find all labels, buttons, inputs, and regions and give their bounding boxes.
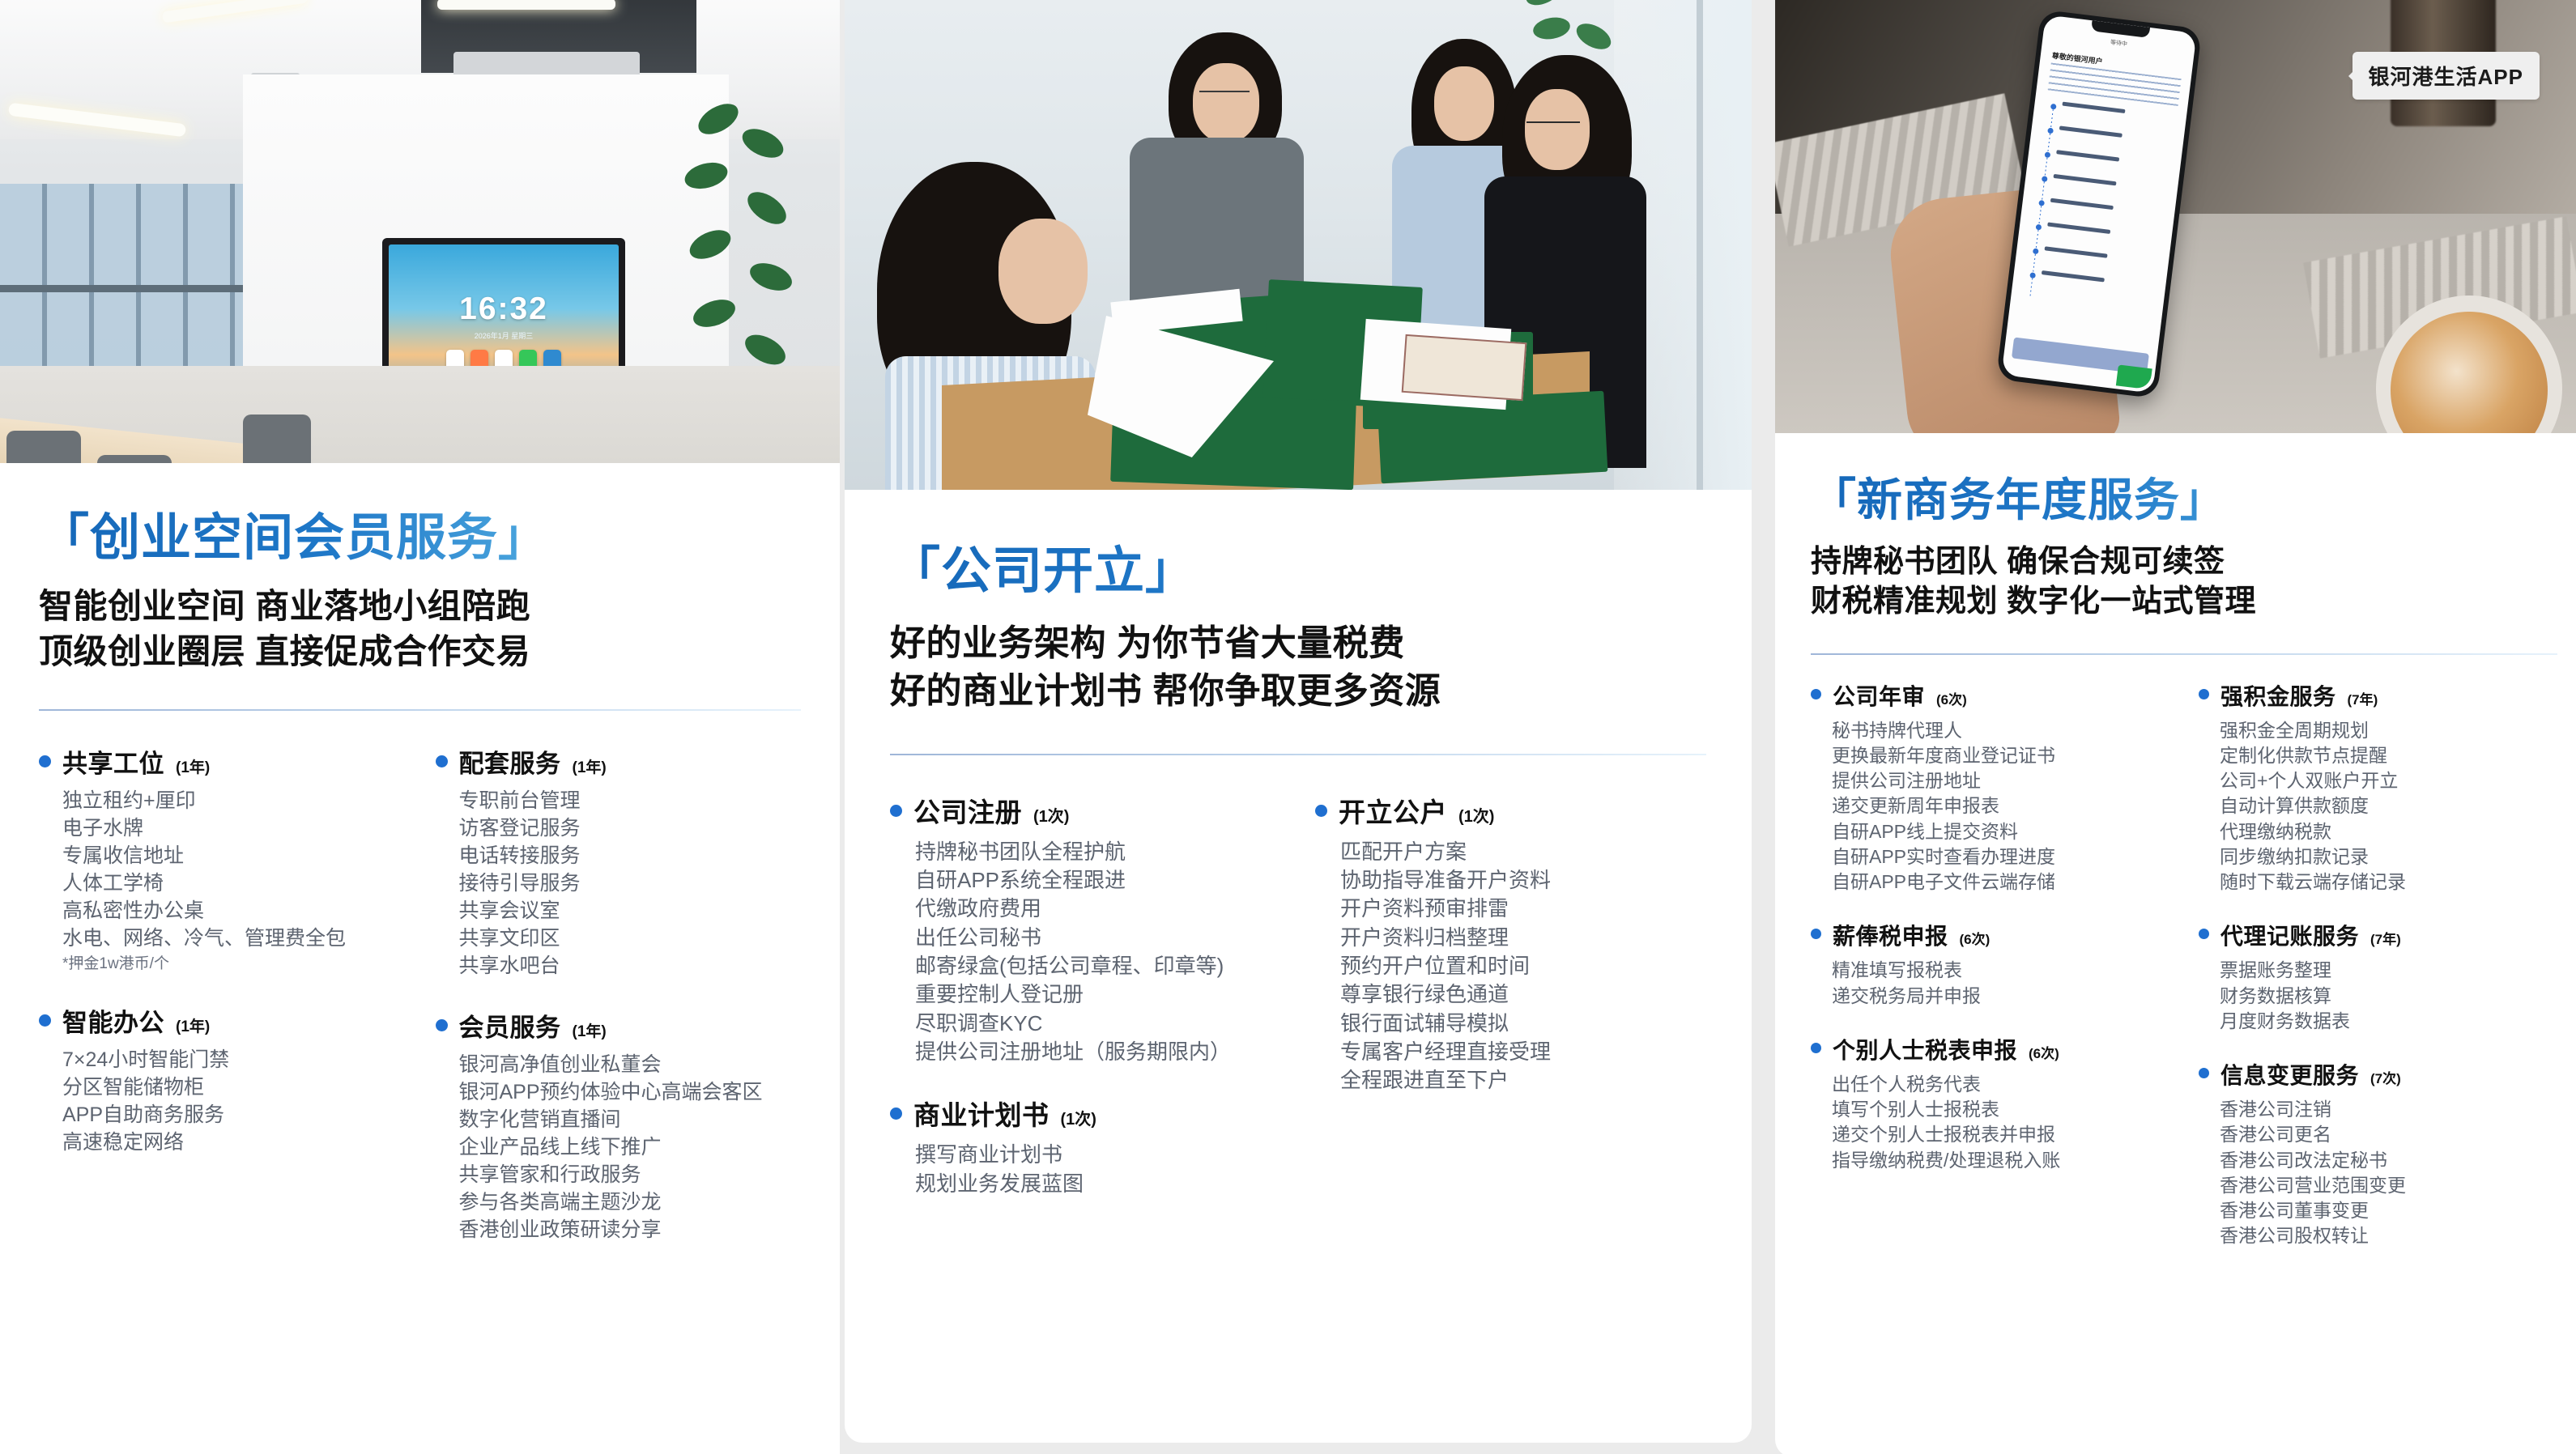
group-title: 商业计划书 bbox=[913, 1094, 1050, 1133]
hero-image-office: 16:32 2026年1月 星期三 bbox=[0, 0, 840, 463]
list-item: 自研APP系统全程跟进 bbox=[915, 866, 1281, 895]
group-salaries-tax: 薪俸税申报 (6次) 精准填写报税表 递交税务局并申报 bbox=[1811, 919, 2169, 1009]
list-item: 定制化供款节点提醒 bbox=[2220, 743, 2557, 768]
group-count: (6次) bbox=[1960, 928, 1991, 948]
card-body: 「公司开立」 好的业务架构 为你节省大量税费 好的商业计划书 帮你争取更多资源 … bbox=[845, 543, 1752, 1226]
group-member-services: 会员服务 (1年) 银河高净值创业私董会 银河APP预约体验中心高端会客区 数字… bbox=[436, 1007, 802, 1244]
group-title: 公司注册 bbox=[913, 791, 1022, 830]
list-item: 访客登记服务 bbox=[459, 814, 802, 842]
list-item: 尽职调查KYC bbox=[915, 1010, 1281, 1038]
group-count: (1年) bbox=[573, 1019, 607, 1041]
group-shared-desk: 共享工位 (1年) 独立租约+厘印 电子水牌 专属收信地址 人体工学椅 高私密性… bbox=[39, 743, 405, 975]
list-item: 自研APP实时查看办理进度 bbox=[1832, 844, 2169, 869]
app-callout-label: 银河港生活APP bbox=[2352, 52, 2540, 100]
hero-image-team bbox=[845, 0, 1752, 490]
list-item: 自研APP线上提交资料 bbox=[1832, 819, 2169, 844]
list-item: 重要控制人登记册 bbox=[915, 980, 1281, 1009]
page-title: 「创业空间会员服务」 bbox=[39, 510, 801, 566]
group-count: (1次) bbox=[1458, 803, 1494, 827]
group-bank-account: 开立公户 (1次) 匹配开户方案 协助指导准备开户资料 开户资料预审排雷 开户资… bbox=[1315, 791, 1706, 1095]
group-count: (1年) bbox=[176, 1014, 210, 1036]
group-items: 银河高净值创业私董会 银河APP预约体验中心高端会客区 数字化营销直播间 企业产… bbox=[459, 1051, 802, 1244]
bullet-dot-icon bbox=[2199, 1068, 2209, 1078]
group-count: (7年) bbox=[2370, 928, 2401, 948]
group-title: 开立公户 bbox=[1339, 791, 1447, 830]
list-item: 企业产品线上线下推广 bbox=[459, 1133, 802, 1161]
list-item: 票据账务整理 bbox=[2220, 958, 2557, 983]
list-item: 递交个别人士报税表并申报 bbox=[1832, 1122, 2169, 1147]
list-item: 香港公司改法定秘书 bbox=[2220, 1148, 2557, 1173]
bullet-dot-icon bbox=[1811, 1043, 1821, 1053]
list-item: 专属收信地址 bbox=[62, 842, 405, 869]
column-2: 强积金服务 (7年) 强积金全周期规划 定制化供款节点提醒 公司+个人双账户开立… bbox=[2199, 679, 2557, 1273]
list-item: 共享文印区 bbox=[459, 925, 802, 952]
subtitle-line-1: 好的业务架构 为你节省大量税费 bbox=[890, 620, 1706, 667]
column-2: 配套服务 (1年) 专职前台管理 访客登记服务 电话转接服务 接待引导服务 共享… bbox=[436, 743, 802, 1271]
list-item: 全程跟进直至下户 bbox=[1340, 1066, 1706, 1095]
list-item: 精准填写报税表 bbox=[1832, 958, 2169, 983]
list-item: 香港公司营业范围变更 bbox=[2220, 1173, 2557, 1198]
hero-image-phone: 等待中 尊敬的银河用户 bbox=[1775, 0, 2576, 433]
group-smart-office: 智能办公 (1年) 7×24小时智能门禁 分区智能储物柜 APP自助商务服务 高… bbox=[39, 1002, 405, 1156]
group-title: 个别人士税表申报 bbox=[1833, 1033, 2017, 1065]
group-items: 强积金全周期规划 定制化供款节点提醒 公司+个人双账户开立 自动计算供款额度 代… bbox=[2220, 718, 2557, 895]
group-items: 出任个人税务代表 填写个别人士报税表 递交个别人士报税表并申报 指导缴纳税费/处… bbox=[1832, 1072, 2169, 1173]
subtitle-line-2: 好的商业计划书 帮你争取更多资源 bbox=[890, 668, 1706, 715]
list-item: 数字化营销直播间 bbox=[459, 1106, 802, 1133]
list-item: 香港公司更名 bbox=[2220, 1122, 2557, 1147]
list-item: 撰写商业计划书 bbox=[915, 1141, 1281, 1169]
group-title: 配套服务 bbox=[459, 743, 561, 780]
group-count: (1次) bbox=[1061, 1106, 1096, 1129]
list-item: 预约开户位置和时间 bbox=[1340, 952, 1706, 980]
group-company-registration: 公司注册 (1次) 持牌秘书团队全程护航 自研APP系统全程跟进 代缴政府费用 … bbox=[890, 791, 1281, 1067]
group-title: 智能办公 bbox=[62, 1002, 164, 1039]
column-1: 共享工位 (1年) 独立租约+厘印 电子水牌 专属收信地址 人体工学椅 高私密性… bbox=[39, 743, 405, 1271]
section-divider bbox=[39, 709, 801, 711]
bullet-dot-icon bbox=[2199, 929, 2209, 939]
list-item: 开户资料预审排雷 bbox=[1340, 895, 1706, 923]
list-item: 开户资料归档整理 bbox=[1340, 924, 1706, 952]
list-item: 独立租约+厘印 bbox=[62, 787, 405, 814]
group-title: 信息变更服务 bbox=[2220, 1058, 2359, 1090]
display-clock: 16:32 bbox=[389, 291, 619, 327]
list-item: 尊享银行绿色通道 bbox=[1340, 980, 1706, 1009]
team-photo bbox=[845, 0, 1752, 490]
deposit-note: *押金1w港币/个 bbox=[62, 954, 405, 975]
groups-grid: 公司年审 (6次) 秘书持牌代理人 更换最新年度商业登记证书 提供公司注册地址 … bbox=[1811, 679, 2557, 1273]
group-items: 秘书持牌代理人 更换最新年度商业登记证书 提供公司注册地址 递交更新周年申报表 … bbox=[1832, 718, 2169, 895]
group-count: (7次) bbox=[2370, 1067, 2401, 1087]
list-item: 代缴政府费用 bbox=[915, 895, 1281, 923]
list-item: 随时下载云端存储记录 bbox=[2220, 869, 2557, 895]
bullet-dot-icon bbox=[2199, 689, 2209, 699]
bullet-dot-icon bbox=[1811, 689, 1821, 699]
list-item: 秘书持牌代理人 bbox=[1832, 718, 2169, 743]
subtitle-line-1: 智能创业空间 商业落地小组陪跑 bbox=[39, 584, 801, 628]
list-item: 共享水吧台 bbox=[459, 952, 802, 980]
subtitle-line-2: 顶级创业圈层 直接促成合作交易 bbox=[39, 629, 801, 674]
bullet-dot-icon bbox=[436, 755, 448, 767]
group-title: 会员服务 bbox=[459, 1007, 561, 1044]
group-count: (6次) bbox=[2029, 1042, 2059, 1062]
list-item: 高私密性办公桌 bbox=[62, 897, 405, 925]
groups-grid: 公司注册 (1次) 持牌秘书团队全程护航 自研APP系统全程跟进 代缴政府费用 … bbox=[890, 791, 1706, 1227]
app-floating-badge[interactable] bbox=[2116, 364, 2152, 389]
list-item: 银行面试辅导模拟 bbox=[1340, 1010, 1706, 1038]
bullet-dot-icon bbox=[1811, 929, 1821, 939]
column-1: 公司注册 (1次) 持牌秘书团队全程护航 自研APP系统全程跟进 代缴政府费用 … bbox=[890, 791, 1281, 1227]
list-item: 协助指导准备开户资料 bbox=[1340, 866, 1706, 895]
list-item: 香港公司股权转让 bbox=[2220, 1223, 2557, 1248]
group-items: 7×24小时智能门禁 分区智能储物柜 APP自助商务服务 高速稳定网络 bbox=[62, 1046, 405, 1156]
list-item: APP自助商务服务 bbox=[62, 1101, 405, 1129]
group-title: 薪俸税申报 bbox=[1833, 919, 1948, 951]
group-items: 精准填写报税表 递交税务局并申报 bbox=[1832, 958, 2169, 1009]
group-count: (1次) bbox=[1033, 803, 1069, 827]
display-date: 2026年1月 星期三 bbox=[389, 330, 619, 341]
group-title: 代理记账服务 bbox=[2220, 919, 2359, 951]
phone-notch bbox=[2091, 20, 2150, 38]
group-items: 票据账务整理 财务数据核算 月度财务数据表 bbox=[2220, 958, 2557, 1034]
list-item: 提供公司注册地址（服务期限内） bbox=[915, 1038, 1281, 1066]
list-item: 接待引导服务 bbox=[459, 869, 802, 897]
card-company-setup: 「公司开立」 好的业务架构 为你节省大量税费 好的商业计划书 帮你争取更多资源 … bbox=[845, 0, 1752, 1443]
list-item: 香港公司注销 bbox=[2220, 1097, 2557, 1122]
card-annual-service: 等待中 尊敬的银河用户 bbox=[1775, 0, 2576, 1454]
group-individual-tax: 个别人士税表申报 (6次) 出任个人税务代表 填写个别人士报税表 递交个别人士报… bbox=[1811, 1033, 2169, 1173]
group-annual-return: 公司年审 (6次) 秘书持牌代理人 更换最新年度商业登记证书 提供公司注册地址 … bbox=[1811, 679, 2169, 895]
list-item: 高速稳定网络 bbox=[62, 1129, 405, 1156]
subtitle-line-2: 财税精准规划 数字化一站式管理 bbox=[1811, 582, 2557, 622]
list-item: 持牌秘书团队全程护航 bbox=[915, 838, 1281, 866]
page-title: 「公司开立」 bbox=[890, 543, 1706, 599]
group-items: 香港公司注销 香港公司更名 香港公司改法定秘书 香港公司营业范围变更 香港公司董… bbox=[2220, 1097, 2557, 1249]
bullet-dot-icon bbox=[436, 1019, 448, 1031]
group-items: 撰写商业计划书 规划业务发展蓝图 bbox=[915, 1141, 1281, 1198]
group-support-services: 配套服务 (1年) 专职前台管理 访客登记服务 电话转接服务 接待引导服务 共享… bbox=[436, 743, 802, 980]
list-item: 电子水牌 bbox=[62, 814, 405, 842]
list-item: 专属客户经理直接受理 bbox=[1340, 1038, 1706, 1066]
section-divider bbox=[1811, 653, 2557, 655]
list-item: 更换最新年度商业登记证书 bbox=[1832, 743, 2169, 768]
group-business-plan: 商业计划书 (1次) 撰写商业计划书 规划业务发展蓝图 bbox=[890, 1094, 1281, 1198]
list-item: 银河APP预约体验中心高端会客区 bbox=[459, 1078, 802, 1106]
bullet-dot-icon bbox=[39, 755, 51, 767]
list-item: 公司+个人双账户开立 bbox=[2220, 768, 2557, 793]
list-item: 出任公司秘书 bbox=[915, 924, 1281, 952]
list-item: 匹配开户方案 bbox=[1340, 838, 1706, 866]
list-item: 填写个别人士报税表 bbox=[1832, 1097, 2169, 1122]
list-item: 递交更新周年申报表 bbox=[1832, 793, 2169, 818]
bullet-dot-icon bbox=[890, 1108, 902, 1120]
card-body: 「创业空间会员服务」 智能创业空间 商业落地小组陪跑 顶级创业圈层 直接促成合作… bbox=[0, 510, 840, 1271]
list-item: 指导缴纳税费/处理退税入账 bbox=[1832, 1148, 2169, 1173]
page-title: 「新商务年度服务」 bbox=[1811, 475, 2557, 526]
group-count: (6次) bbox=[1936, 688, 1967, 708]
group-title: 公司年审 bbox=[1833, 679, 1925, 712]
list-item: 参与各类高端主题沙龙 bbox=[459, 1188, 802, 1216]
list-item: 银河高净值创业私董会 bbox=[459, 1051, 802, 1078]
group-bookkeeping: 代理记账服务 (7年) 票据账务整理 财务数据核算 月度财务数据表 bbox=[2199, 919, 2557, 1034]
list-item: 自动计算供款额度 bbox=[2220, 793, 2557, 818]
list-item: 月度财务数据表 bbox=[2220, 1009, 2557, 1034]
group-items: 持牌秘书团队全程护航 自研APP系统全程跟进 代缴政府费用 出任公司秘书 邮寄绿… bbox=[915, 838, 1281, 1067]
list-item: 自研APP电子文件云端存储 bbox=[1832, 869, 2169, 895]
group-mpf-service: 强积金服务 (7年) 强积金全周期规划 定制化供款节点提醒 公司+个人双账户开立… bbox=[2199, 679, 2557, 895]
card-membership: 16:32 2026年1月 星期三 bbox=[0, 0, 840, 1454]
list-item: 规划业务发展蓝图 bbox=[915, 1170, 1281, 1198]
group-items: 专职前台管理 访客登记服务 电话转接服务 接待引导服务 共享会议室 共享文印区 … bbox=[459, 787, 802, 980]
group-items: 匹配开户方案 协助指导准备开户资料 开户资料预审排雷 开户资料归档整理 预约开户… bbox=[1340, 838, 1706, 1095]
list-item: 出任个人税务代表 bbox=[1832, 1072, 2169, 1097]
group-items: 独立租约+厘印 电子水牌 专属收信地址 人体工学椅 高私密性办公桌 水电、网络、… bbox=[62, 787, 405, 975]
section-divider bbox=[890, 754, 1706, 755]
list-item: 分区智能储物柜 bbox=[62, 1073, 405, 1101]
group-title: 强积金服务 bbox=[2220, 679, 2336, 712]
list-item: 人体工学椅 bbox=[62, 869, 405, 897]
subtitle-line-1: 持牌秘书团队 确保合规可续签 bbox=[1811, 542, 2557, 582]
list-item: 共享会议室 bbox=[459, 897, 802, 925]
list-item: 强积金全周期规划 bbox=[2220, 718, 2557, 743]
poster-board: 16:32 2026年1月 星期三 bbox=[0, 0, 2576, 1454]
list-item: 专职前台管理 bbox=[459, 787, 802, 814]
list-item: 递交税务局并申报 bbox=[1832, 984, 2169, 1009]
list-item: 共享管家和行政服务 bbox=[459, 1161, 802, 1188]
group-count: (1年) bbox=[573, 755, 607, 777]
list-item: 香港公司董事变更 bbox=[2220, 1198, 2557, 1223]
office-photo: 16:32 2026年1月 星期三 bbox=[0, 0, 840, 463]
phone-photo: 等待中 尊敬的银河用户 bbox=[1775, 0, 2576, 433]
card-body: 「新商务年度服务」 持牌秘书团队 确保合规可续签 财税精准规划 数字化一站式管理… bbox=[1775, 475, 2576, 1273]
app-progress-steps bbox=[2028, 100, 2170, 308]
group-title: 共享工位 bbox=[62, 743, 164, 780]
list-item: 财务数据核算 bbox=[2220, 984, 2557, 1009]
group-count: (1年) bbox=[176, 755, 210, 777]
list-item: 邮寄绿盒(包括公司章程、印章等) bbox=[915, 952, 1281, 980]
list-item: 代理缴纳税款 bbox=[2220, 819, 2557, 844]
group-info-change: 信息变更服务 (7次) 香港公司注销 香港公司更名 香港公司改法定秘书 香港公司… bbox=[2199, 1058, 2557, 1249]
bullet-dot-icon bbox=[890, 805, 902, 817]
list-item: 香港创业政策研读分享 bbox=[459, 1216, 802, 1244]
groups-grid: 共享工位 (1年) 独立租约+厘印 电子水牌 专属收信地址 人体工学椅 高私密性… bbox=[39, 743, 801, 1271]
list-item: 水电、网络、冷气、管理费全包 bbox=[62, 925, 405, 952]
list-item: 同步缴纳扣款记录 bbox=[2220, 844, 2557, 869]
bullet-dot-icon bbox=[39, 1014, 51, 1027]
column-2: 开立公户 (1次) 匹配开户方案 协助指导准备开户资料 开户资料预审排雷 开户资… bbox=[1315, 791, 1706, 1227]
list-item: 提供公司注册地址 bbox=[1832, 768, 2169, 793]
column-1: 公司年审 (6次) 秘书持牌代理人 更换最新年度商业登记证书 提供公司注册地址 … bbox=[1811, 679, 2169, 1273]
group-count: (7年) bbox=[2348, 688, 2378, 708]
list-item: 7×24小时智能门禁 bbox=[62, 1046, 405, 1073]
list-item: 电话转接服务 bbox=[459, 842, 802, 869]
bullet-dot-icon bbox=[1315, 805, 1327, 817]
app-screen-paragraph bbox=[2048, 62, 2182, 105]
